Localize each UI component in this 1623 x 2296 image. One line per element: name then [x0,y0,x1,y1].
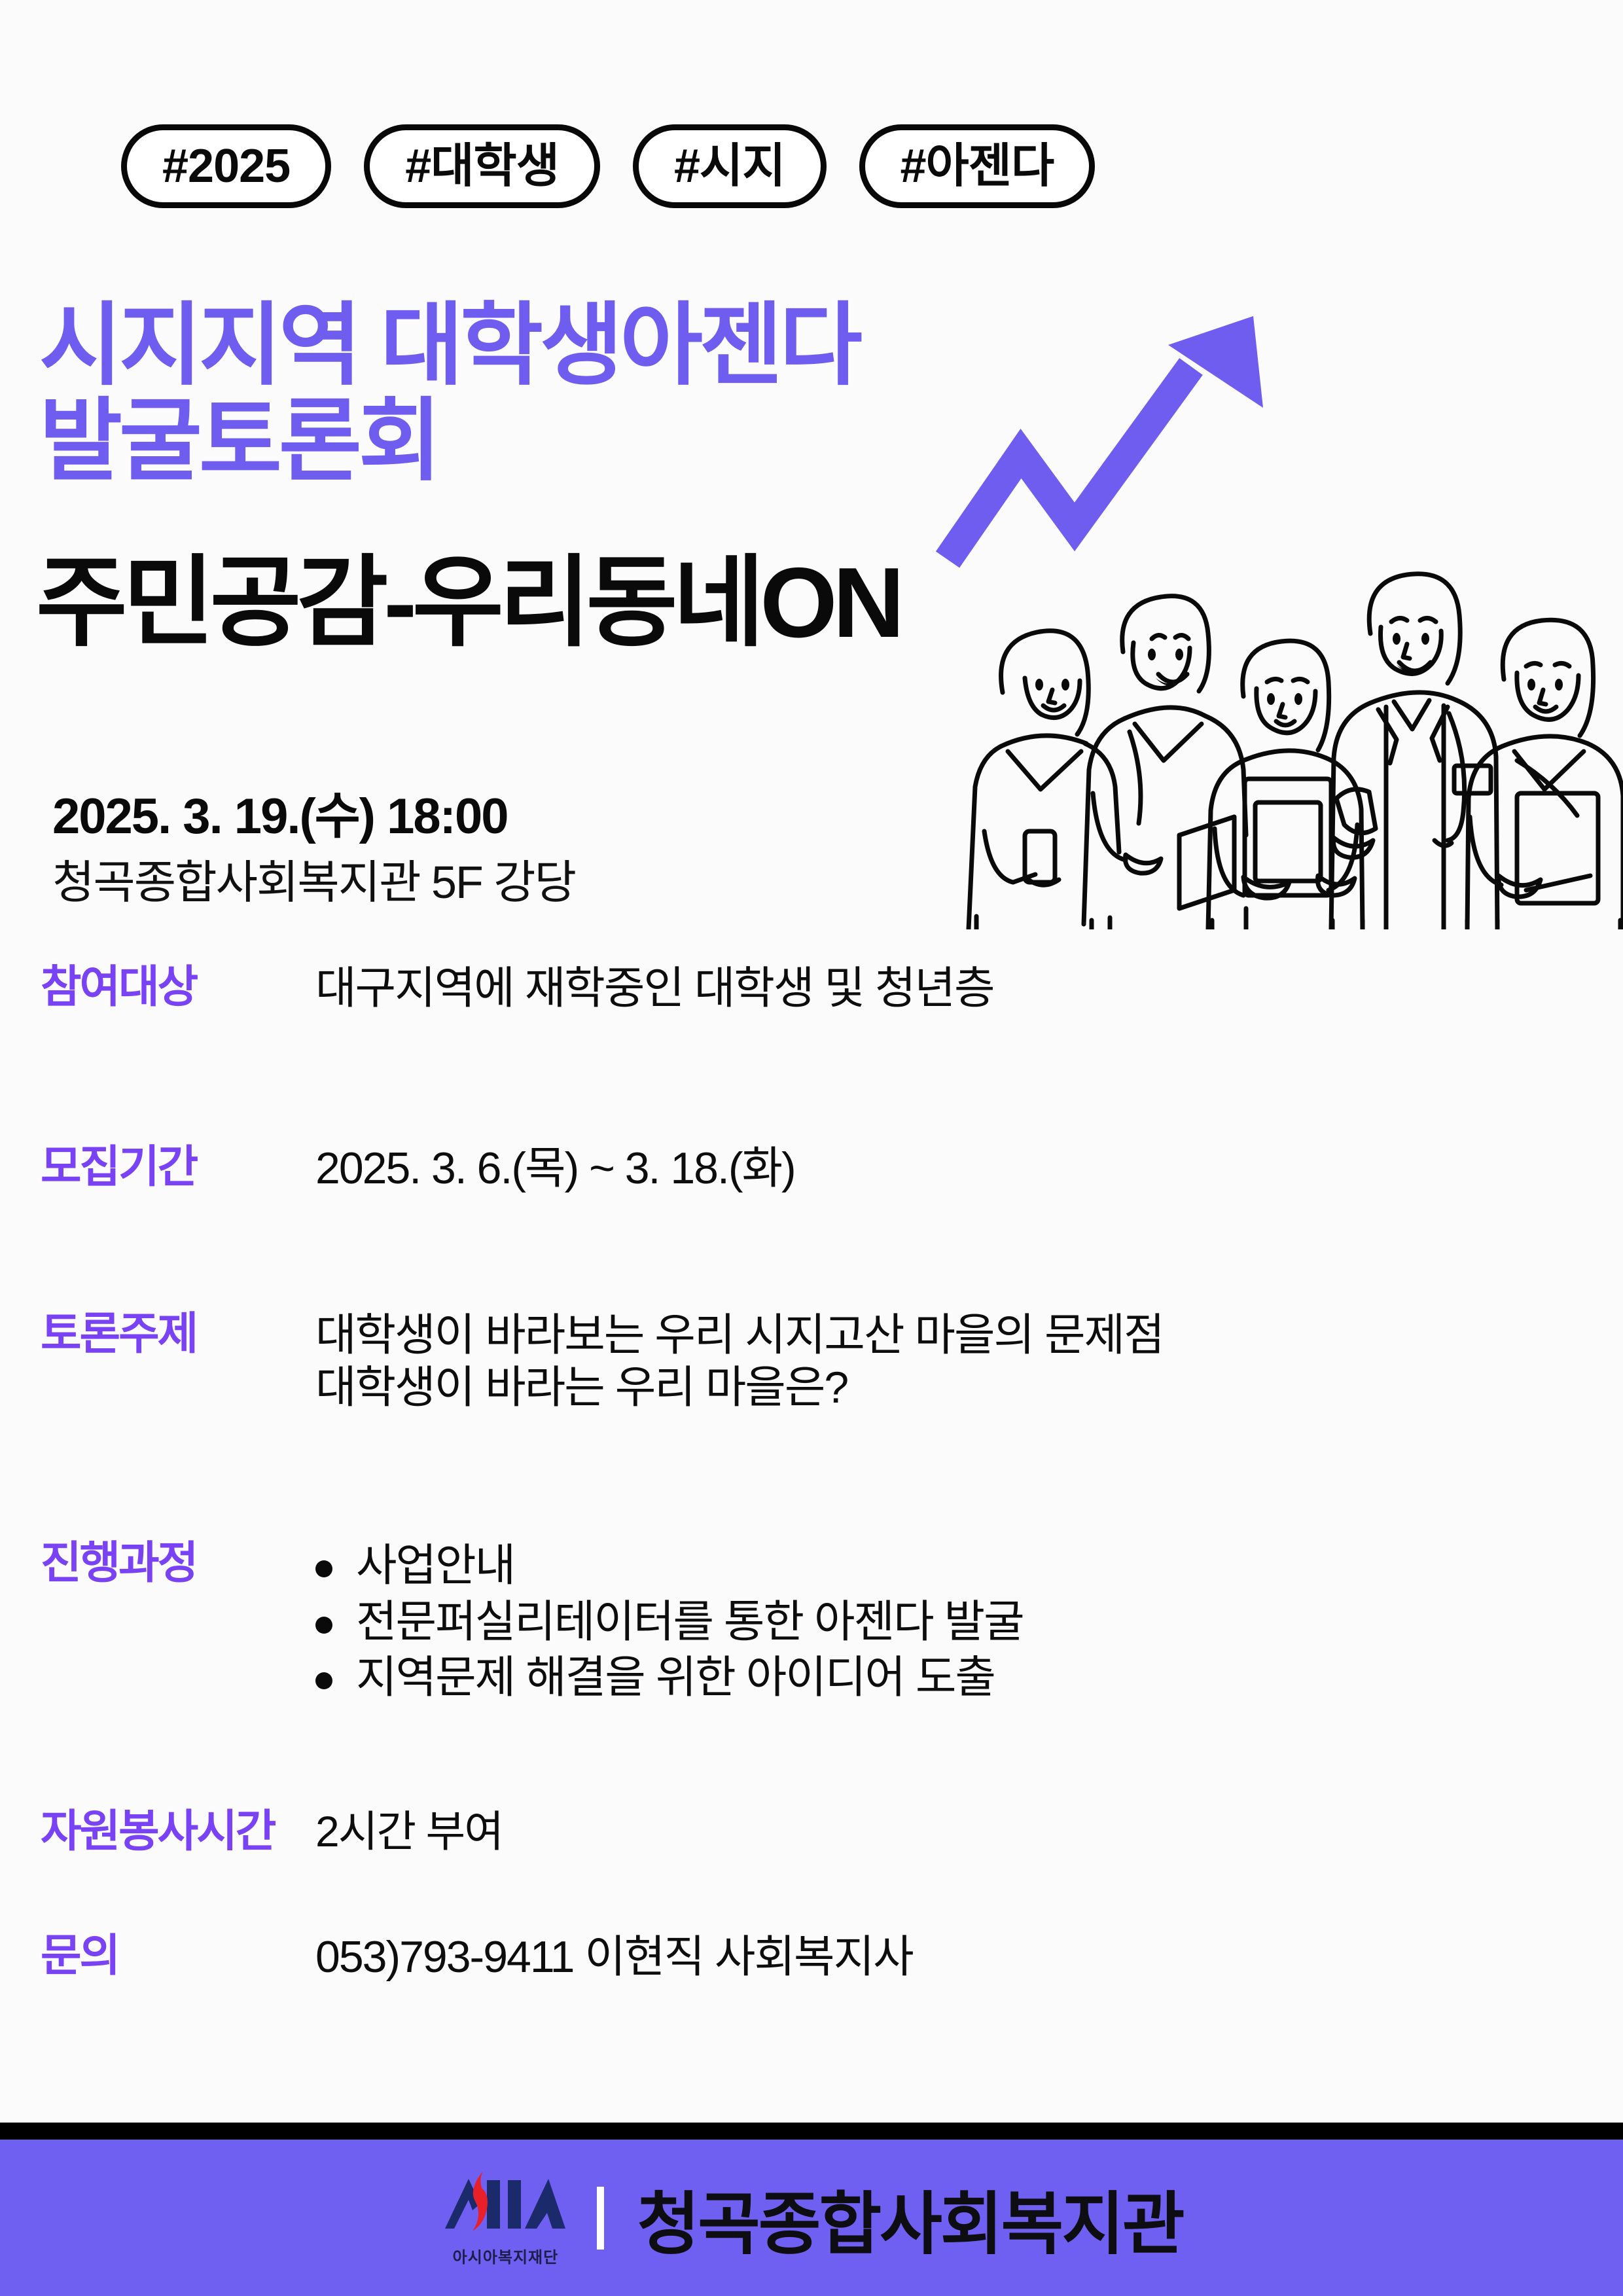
process-item-text: 지역문제 해결을 위한 아이디어 도출 [356,1650,995,1706]
hashtag-pill-student[interactable]: #대학생 [364,124,600,208]
hashtag-pill-agenda[interactable]: #아젠다 [859,124,1096,208]
process-item-text: 전문퍼실리테이터를 통한 아젠다 발굴 [356,1594,1024,1651]
hashtag-label: #대학생 [405,143,559,190]
info-label-process: 진행과정 [41,1538,315,1588]
hashtag-label: #아젠다 [901,143,1054,190]
event-venue: 청곡종합사회복지관 5F 강당 [52,846,575,912]
process-item-text: 사업안내 [356,1538,514,1594]
info-value-contact: 053)793-9411 이현직 사회복지사 [315,1931,913,1983]
info-value-volunteer: 2시간 부여 [315,1806,503,1857]
hashtag-label: #시지 [674,143,785,190]
asia-foundation-logo: 아시아복지재단 [440,2168,571,2267]
info-row-period: 모집기간 2025. 3. 6.(목) ~ 3. 18.(화) [41,1142,1598,1194]
list-item: 지역문제 해결을 위한 아이디어 도출 [315,1650,1024,1706]
hashtag-pill-siji[interactable]: #시지 [633,124,827,208]
info-row-process: 진행과정 사업안내 전문퍼실리테이터를 통한 아젠다 발굴 지역문제 해결을 위… [41,1538,1598,1706]
info-label-volunteer: 자원봉사시간 [41,1806,315,1856]
info-label-topic: 토론주제 [41,1309,315,1359]
info-row-topic: 토론주제 대학생이 바라보는 우리 시지고산 마을의 문제점 대학생이 바라는 … [41,1309,1598,1414]
bullet-dot-icon [315,1617,332,1634]
asia-logo-icon [440,2168,571,2240]
info-value-period: 2025. 3. 6.(목) ~ 3. 18.(화) [315,1142,795,1194]
info-label-contact: 문의 [41,1931,315,1981]
hashtag-label: #2025 [162,143,290,190]
poster-canvas: #2025 #대학생 #시지 #아젠다 시지지역 대학생아젠다 발굴토론회 주민… [0,0,1623,2296]
info-row-volunteer: 자원봉사시간 2시간 부여 [41,1806,1598,1857]
footer-divider [0,2123,1623,2140]
info-label-period: 모집기간 [41,1142,315,1192]
event-datetime: 2025. 3. 19.(수) 18:00 [52,776,507,848]
bullet-dot-icon [315,1672,332,1689]
info-label-target: 참여대상 [41,962,315,1012]
footer-bar: 아시아복지재단 청곡종합사회복지관 [0,2140,1623,2296]
asia-logo-subtitle: 아시아복지재단 [453,2244,559,2267]
university-students-illustration [962,550,1623,929]
topic-line-1: 대학생이 바라보는 우리 시지고산 마을의 문제점 [315,1309,1164,1361]
footer-organization-name: 청곡종합사회복지관 [637,2168,1183,2267]
trending-up-arrow-icon [910,298,1276,573]
process-list: 사업안내 전문퍼실리테이터를 통한 아젠다 발굴 지역문제 해결을 위한 아이디… [315,1538,1024,1706]
list-item: 전문퍼실리테이터를 통한 아젠다 발굴 [315,1594,1024,1651]
info-value-target: 대구지역에 재학중인 대학생 및 청년층 [315,962,994,1014]
info-row-target: 참여대상 대구지역에 재학중인 대학생 및 청년층 [41,962,1598,1014]
list-item: 사업안내 [315,1538,1024,1594]
headline-subtitle: 주민공감-우리동네ON [36,553,900,653]
bullet-dot-icon [315,1560,332,1577]
footer-separator [597,2187,604,2250]
hashtag-row: #2025 #대학생 #시지 #아젠다 [121,124,1095,208]
hashtag-pill-year[interactable]: #2025 [121,124,331,208]
info-value-topic: 대학생이 바라보는 우리 시지고산 마을의 문제점 대학생이 바라는 우리 마을… [315,1309,1164,1414]
topic-line-2: 대학생이 바라는 우리 마을은? [315,1361,1164,1414]
info-row-contact: 문의 053)793-9411 이현직 사회복지사 [41,1931,1598,1983]
